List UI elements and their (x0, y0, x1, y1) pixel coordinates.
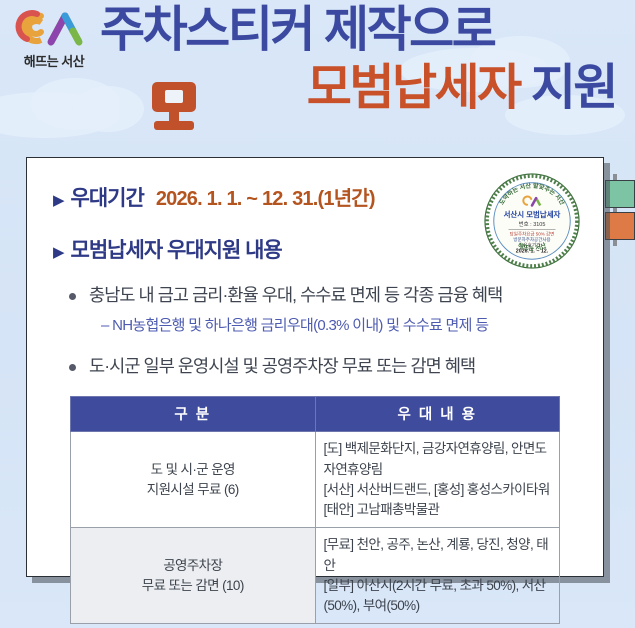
benefit-text: 충남도 내 금고 금리·환율 우대, 수수료 면제 등 각종 금융 혜택 (65, 284, 583, 308)
content-card: 도약하는 서산 발맞추는 서산 서산시 모범납세자 번호 : 3105 당일주차… (26, 157, 604, 577)
header: 해뜨는 서산 주차스티커 제작으로 모범납세자 지원 (0, 0, 635, 150)
decor-chip-green (605, 180, 635, 208)
ci-label: 해뜨는 서산 (8, 51, 100, 70)
triangle-marker-icon: ▶ (53, 245, 65, 260)
svg-text:번호 : 3105: 번호 : 3105 (519, 220, 546, 228)
section-label: 모범납세자 우대지원 내용 (71, 234, 282, 264)
svg-text:서산시 모범납세자: 서산시 모범납세자 (504, 209, 561, 219)
title-line-2-highlight: 모범납세자 (307, 61, 520, 115)
table-header-detail: 우 대 내 용 (315, 397, 560, 432)
table-cell-detail: [무료] 천안, 공주, 논산, 계룡, 당진, 청양, 태안 [일부] 아산시… (315, 528, 560, 624)
benefit-item: 도·시군 일부 운영시설 및 공영주차장 무료 또는 감면 혜택 (65, 355, 583, 379)
title-line-2: 모범납세자 지원 (100, 60, 628, 118)
table-row: 공영주차장 무료 또는 감면 (10) [무료] 천안, 공주, 논산, 계룡,… (71, 528, 560, 624)
ci-mark-icon (11, 6, 97, 50)
table-header-row: 구 분 우 대 내 용 (71, 397, 560, 432)
table-cell-detail: [도] 백제문화단지, 금강자연휴양림, 안면도자연휴양림 [서산] 서산버드랜… (315, 432, 560, 528)
taxpayer-seal-stamp-icon: 도약하는 서산 발맞추는 서산 서산시 모범납세자 번호 : 3105 당일주차… (483, 172, 581, 270)
decor-chip-orange (605, 212, 635, 240)
title-line-2-tail: 지원 (531, 61, 616, 115)
benefit-table: 구 분 우 대 내 용 도 및 시·군 운영 지원시설 무료 (6) [도] 백… (70, 396, 560, 624)
period-value: 2026. 1. 1. ~ 12. 31.(1년간) (156, 182, 375, 211)
benefit-text: 도·시군 일부 운영시설 및 공영주차장 무료 또는 감면 혜택 (65, 355, 583, 379)
poster-title: 주차스티커 제작으로 모범납세자 지원 (100, 2, 628, 118)
triangle-marker-icon: ▶ (53, 193, 65, 208)
benefit-item: 충남도 내 금고 금리·환율 우대, 수수료 면제 등 각종 금융 혜택 – N… (65, 284, 583, 335)
table-row: 도 및 시·군 운영 지원시설 무료 (6) [도] 백제문화단지, 금강자연휴… (71, 432, 560, 528)
period-label: 우대기간 (71, 182, 144, 212)
table-header-category: 구 분 (71, 397, 316, 432)
benefit-subtext: – NH농협은행 및 하나은행 금리우대(0.3% 이내) 및 수수료 면제 등 (101, 314, 583, 335)
title-line-1: 주차스티커 제작으로 (100, 2, 628, 60)
table-cell-category: 공영주차장 무료 또는 감면 (10) (71, 528, 316, 624)
seosan-city-ci: 해뜨는 서산 (8, 6, 100, 68)
table-cell-category: 도 및 시·군 운영 지원시설 무료 (6) (71, 432, 316, 528)
